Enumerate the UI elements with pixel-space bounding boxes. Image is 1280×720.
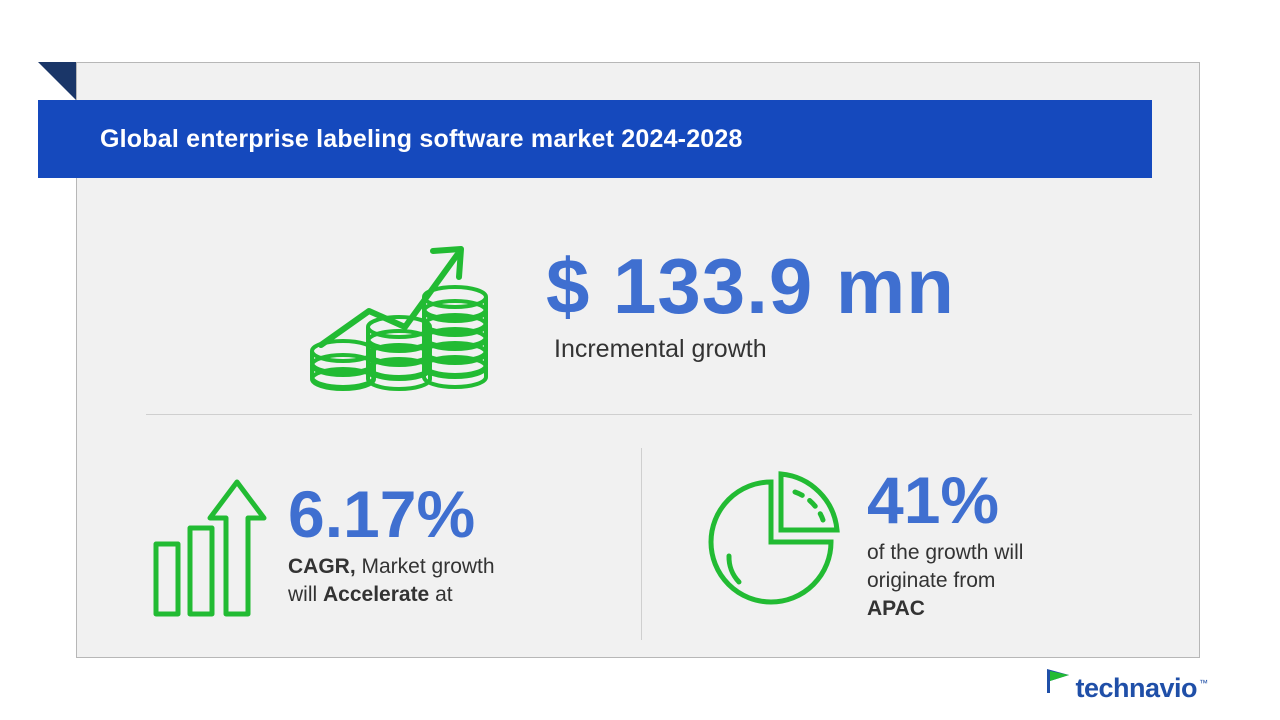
region-description: of the growth will originate from APAC — [867, 539, 1023, 622]
region-share-value: 41% — [867, 467, 1023, 533]
region-line-2: originate from — [867, 569, 995, 592]
coin-stacks-growth-icon — [272, 215, 532, 395]
incremental-growth-value: $ 133.9 mn — [546, 247, 955, 325]
bottom-metrics-section: 6.17% CAGR, Market growth will Accelerat… — [76, 440, 1200, 650]
brand-logo: technavio ™ — [1045, 667, 1208, 702]
pie-chart-icon — [699, 460, 849, 630]
incremental-growth-label: Incremental growth — [554, 335, 955, 364]
brand-name: technavio — [1075, 675, 1197, 702]
bar-chart-arrow-up-icon — [152, 468, 270, 623]
region-line-1: of the growth will — [867, 541, 1023, 564]
cagr-label-bold: CAGR, — [288, 555, 356, 578]
cagr-description: CAGR, Market growth will Accelerate at — [288, 553, 495, 608]
incremental-growth-section: $ 133.9 mn Incremental growth — [76, 196, 1200, 414]
cagr-label-rest: Market growth — [356, 555, 495, 578]
horizontal-divider — [146, 414, 1192, 415]
cagr-label-will: will — [288, 583, 323, 606]
cagr-label-accelerate: Accelerate — [323, 583, 429, 606]
cagr-value: 6.17% — [288, 481, 495, 547]
cagr-text-block: 6.17% CAGR, Market growth will Accelerat… — [288, 481, 495, 608]
incremental-growth-block: $ 133.9 mn Incremental growth — [546, 247, 955, 364]
trademark-symbol: ™ — [1199, 678, 1208, 688]
corner-fold-decoration — [38, 62, 76, 100]
technavio-flag-icon — [1045, 667, 1071, 700]
region-text-block: 41% of the growth will originate from AP… — [867, 467, 1023, 622]
region-name: APAC — [867, 597, 925, 620]
title-bar: Global enterprise labeling software mark… — [38, 100, 1152, 178]
cagr-label-at: at — [429, 583, 452, 606]
page-title: Global enterprise labeling software mark… — [100, 125, 743, 154]
region-panel: 41% of the growth will originate from AP… — [641, 440, 1200, 650]
cagr-panel: 6.17% CAGR, Market growth will Accelerat… — [76, 440, 641, 650]
